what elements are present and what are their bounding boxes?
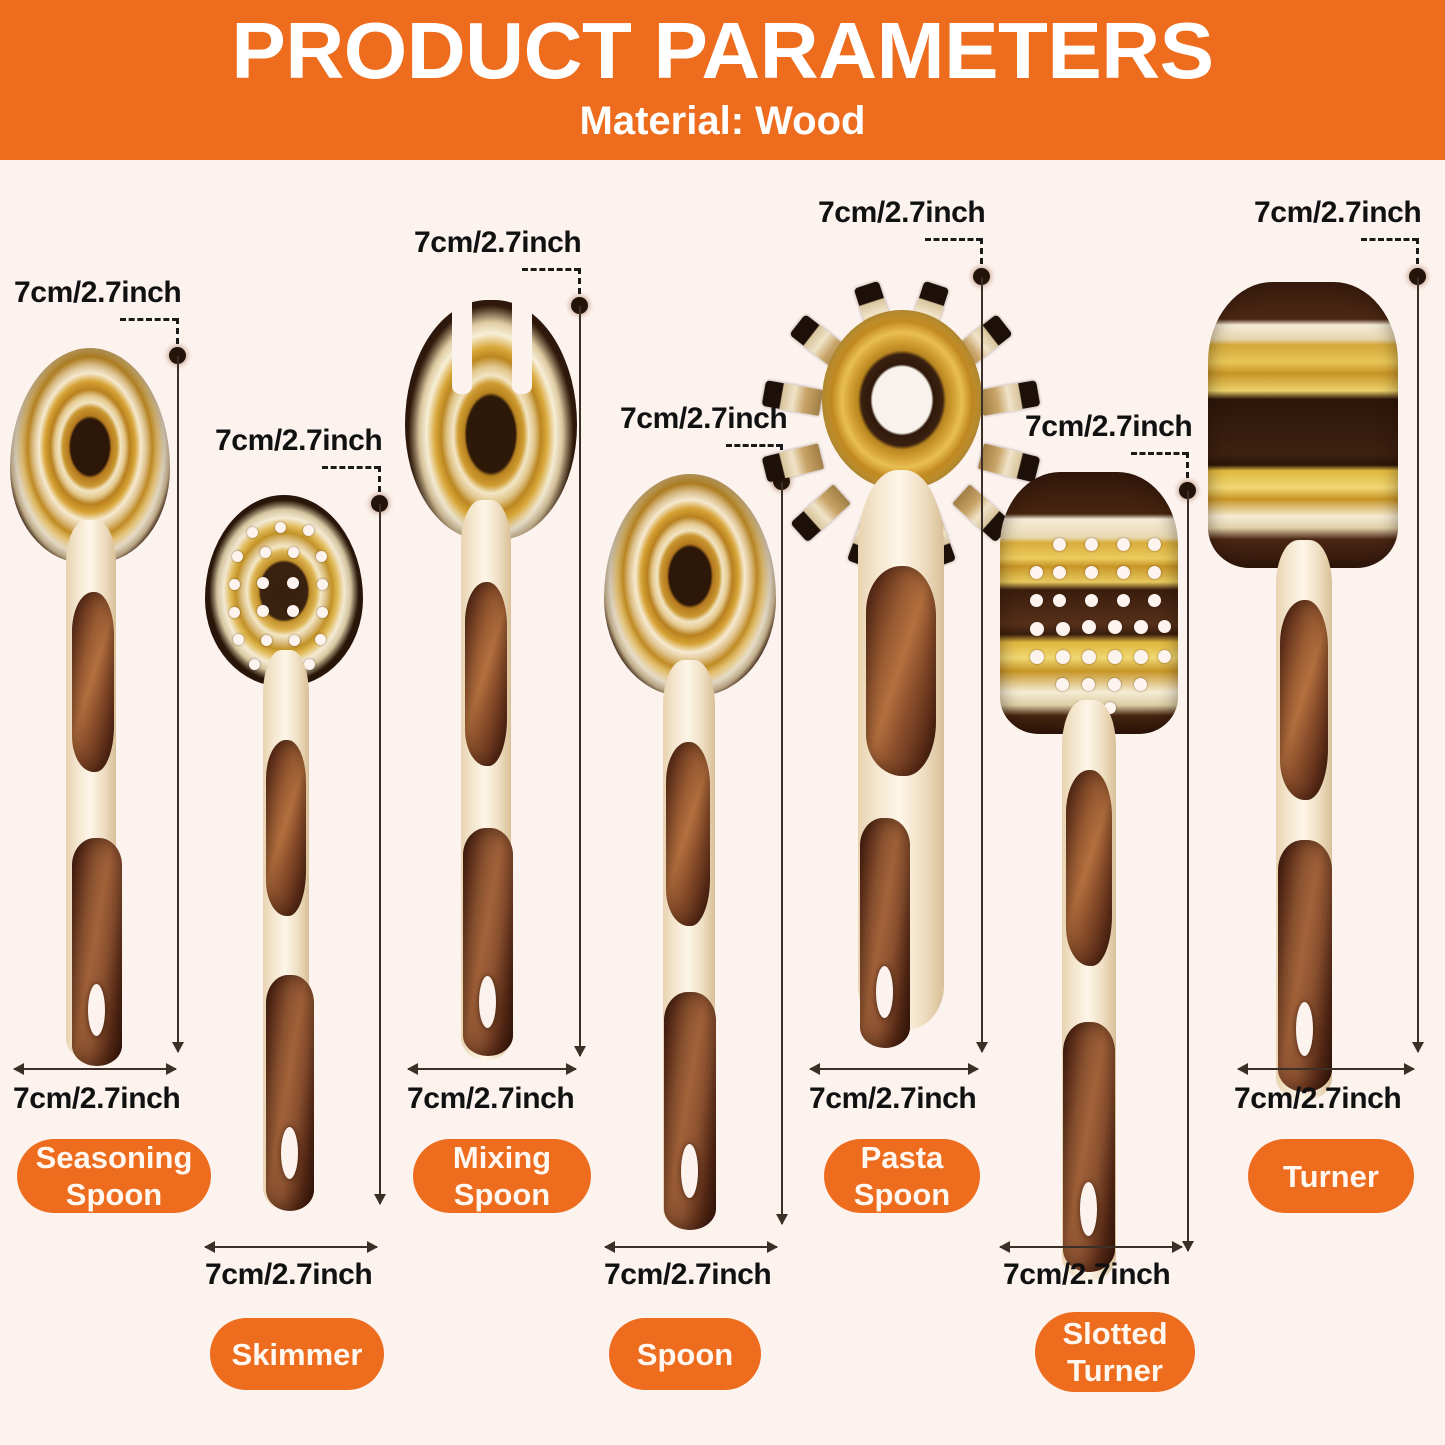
- mixing-spoon-grip-upper: [465, 582, 507, 766]
- turner-paddle: [1208, 282, 1398, 568]
- slotted-turner-length-line: [1187, 491, 1189, 1251]
- turner-leader-dash: [1361, 238, 1418, 241]
- pasta-spoon-width-arrow: [810, 1068, 978, 1070]
- slotted-turner-grip-lower: [1063, 1022, 1115, 1272]
- badge-slotted-turner[interactable]: Slotted Turner: [1035, 1312, 1195, 1392]
- spoon-length-line: [781, 482, 783, 1224]
- material-subtitle: Material: Wood: [0, 98, 1445, 144]
- spoon-grip-lower: [664, 992, 716, 1230]
- spoon-hang-hole: [681, 1144, 698, 1198]
- seasoning-spoon-bottom-dimension: 7cm/2.7inch: [13, 1082, 180, 1116]
- skimmer-leader-dash: [322, 466, 380, 469]
- seasoning-spoon-width-arrow: [14, 1068, 176, 1070]
- skimmer-grip-upper: [266, 740, 306, 916]
- pasta-spoon-leader-dash: [925, 238, 982, 241]
- seasoning-spoon-leader-dash: [120, 318, 178, 321]
- pasta-spoon-grip-upper: [866, 566, 936, 776]
- pasta-spoon-bottom-dimension: 7cm/2.7inch: [809, 1082, 976, 1116]
- spoon-leader-dash: [726, 444, 782, 447]
- turner-grip-upper: [1280, 600, 1328, 800]
- skimmer-hang-hole: [281, 1127, 298, 1179]
- turner-bottom-dimension: 7cm/2.7inch: [1234, 1082, 1401, 1116]
- badge-turner[interactable]: Turner: [1248, 1139, 1414, 1213]
- turner-width-arrow: [1238, 1068, 1414, 1070]
- skimmer-bottom-dimension: 7cm/2.7inch: [205, 1258, 372, 1292]
- pasta-spoon-head: [822, 310, 982, 490]
- turner-top-dimension: 7cm/2.7inch: [1254, 196, 1421, 230]
- badge-mixing-spoon[interactable]: Mixing Spoon: [413, 1139, 591, 1213]
- turner-length-line: [1417, 277, 1419, 1052]
- seasoning-spoon-hang-hole: [88, 984, 105, 1036]
- pasta-spoon-hang-hole: [876, 966, 893, 1018]
- mixing-spoon-grip-lower: [463, 828, 513, 1056]
- pasta-tooth: [978, 443, 1041, 482]
- mixing-spoon-length-line: [579, 306, 581, 1056]
- seasoning-spoon-grip-lower: [72, 838, 122, 1066]
- skimmer-top-dimension: 7cm/2.7inch: [215, 424, 382, 458]
- mixing-spoon-width-arrow: [408, 1068, 576, 1070]
- slotted-turner-leader-dash: [1131, 452, 1188, 455]
- slotted-turner-width-arrow: [1000, 1246, 1182, 1248]
- turner-grip-lower: [1278, 840, 1332, 1092]
- seasoning-spoon-grip-upper: [72, 592, 114, 772]
- spoon-grip-upper: [666, 742, 710, 926]
- mixing-spoon-notch-right: [512, 296, 532, 394]
- header-banner: PRODUCT PARAMETERS Material: Wood: [0, 0, 1445, 160]
- seasoning-spoon-top-dimension: 7cm/2.7inch: [14, 276, 181, 310]
- spoon-bottom-dimension: 7cm/2.7inch: [604, 1258, 771, 1292]
- badge-pasta-spoon[interactable]: Pasta Spoon: [824, 1139, 980, 1213]
- spoon-top-dimension: 7cm/2.7inch: [620, 402, 787, 436]
- turner-hang-hole: [1296, 1002, 1313, 1056]
- product-parameters-infographic: PRODUCT PARAMETERS Material: Wood 7cm/2.…: [0, 0, 1445, 1445]
- mixing-spoon-hang-hole: [479, 976, 496, 1028]
- mixing-spoon-leader-dash: [522, 268, 580, 271]
- seasoning-spoon-length-line: [177, 356, 179, 1052]
- mixing-spoon-notch-left: [452, 296, 472, 394]
- slotted-turner-bottom-dimension: 7cm/2.7inch: [1003, 1258, 1170, 1292]
- mixing-spoon-bottom-dimension: 7cm/2.7inch: [407, 1082, 574, 1116]
- badge-skimmer[interactable]: Skimmer: [210, 1318, 384, 1390]
- mixing-spoon-top-dimension: 7cm/2.7inch: [414, 226, 581, 260]
- skimmer-length-line: [379, 504, 381, 1204]
- pasta-tooth: [762, 443, 825, 482]
- pasta-spoon-length-line: [981, 277, 983, 1052]
- page-title: PRODUCT PARAMETERS: [0, 6, 1445, 96]
- pasta-tooth: [790, 484, 850, 542]
- skimmer-grip-lower: [266, 975, 314, 1211]
- slotted-turner-top-dimension: 7cm/2.7inch: [1025, 410, 1192, 444]
- slotted-turner-hang-hole: [1080, 1182, 1097, 1236]
- badge-seasoning-spoon[interactable]: Seasoning Spoon: [17, 1139, 211, 1213]
- slotted-turner-grip-upper: [1066, 770, 1112, 966]
- skimmer-width-arrow: [205, 1246, 377, 1248]
- pasta-spoon-top-dimension: 7cm/2.7inch: [818, 196, 985, 230]
- spoon-width-arrow: [605, 1246, 777, 1248]
- badge-spoon[interactable]: Spoon: [609, 1318, 761, 1390]
- pasta-spoon-grip-lower: [860, 818, 910, 1048]
